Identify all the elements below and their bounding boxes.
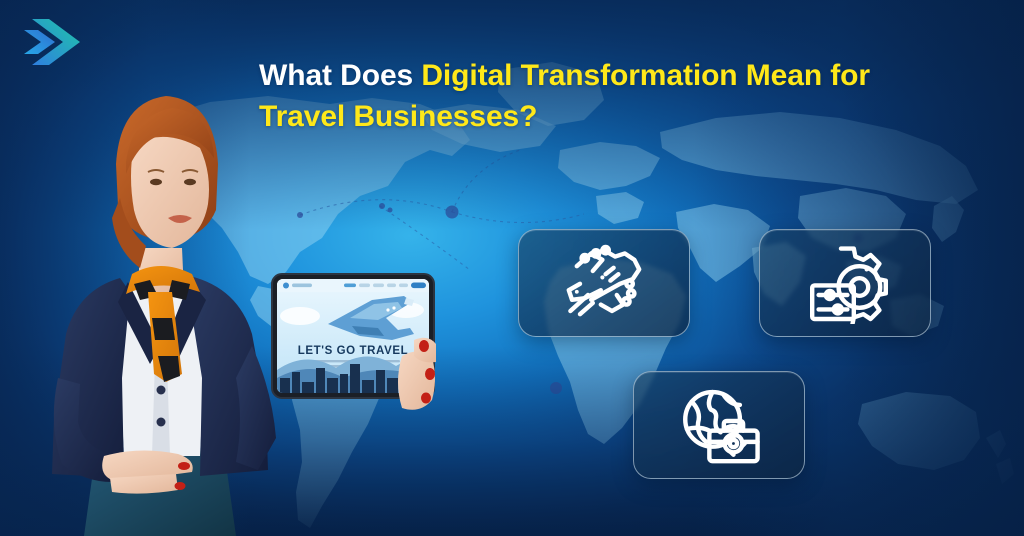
promo-banner: What Does Digital Transformation Mean fo…: [0, 0, 1024, 536]
flight-attendant-photo: LET'S GO TRAVEL: [0, 78, 440, 536]
globe-briefcase-card[interactable]: [633, 371, 805, 479]
left-hand: [102, 450, 193, 493]
globe-briefcase-icon: [674, 384, 764, 466]
gear-settings-icon: [801, 242, 889, 324]
tablet-site-headline: LET'S GO TRAVEL: [298, 345, 409, 357]
headline-accent-1: Digital Transformation Mean for: [421, 59, 870, 92]
airplane-card[interactable]: [518, 229, 690, 337]
airplane-icon: [556, 242, 652, 324]
settings-gear-card[interactable]: [759, 229, 931, 337]
brand-logo[interactable]: [18, 16, 86, 68]
chevron-arrow-logo-icon: [24, 19, 80, 65]
